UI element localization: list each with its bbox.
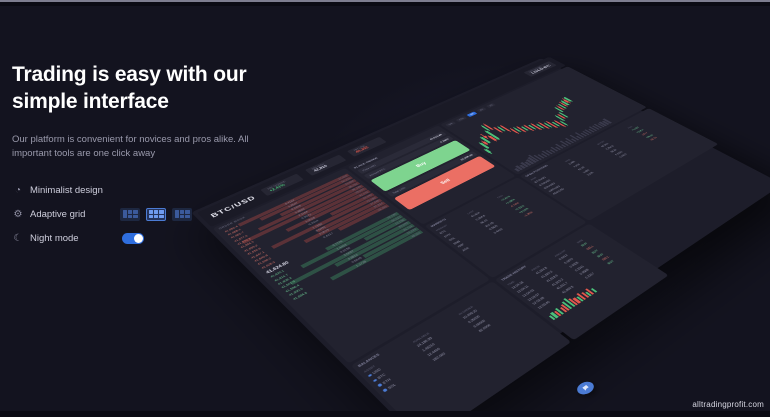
feature-list: ◔ Minimalist design ⚙ Adaptive grid ☾ Ni… xyxy=(10,180,192,252)
hero-subtitle: Our platform is convenient for novices a… xyxy=(12,133,267,162)
support-chat-button[interactable] xyxy=(574,379,597,397)
minimal-design-icon: ◔ xyxy=(10,185,26,196)
feature-adaptive-grid: ⚙ Adaptive grid xyxy=(10,204,192,224)
gear-icon: ⚙ xyxy=(10,209,26,220)
window-frame-bottom xyxy=(0,411,770,417)
support-chat-icon xyxy=(580,384,591,393)
moon-icon: ☾ xyxy=(10,233,26,244)
grid-layout-button-3[interactable] xyxy=(172,208,192,221)
feature-label-minimalist: Minimalist design xyxy=(30,185,116,196)
window-frame-top xyxy=(0,0,770,6)
grid-layout-buttons xyxy=(120,208,192,221)
toggle-knob xyxy=(134,234,143,243)
grid-layout-button-1[interactable] xyxy=(120,208,140,221)
grid-layout-button-2[interactable] xyxy=(146,208,166,221)
feature-minimalist-design: ◔ Minimalist design xyxy=(10,180,192,200)
night-mode-toggle[interactable] xyxy=(122,233,144,244)
dashboard-stage: BTC/USD 24H CHANGE +2.41% 24H HIGH 42,81… xyxy=(258,18,770,408)
site-watermark: alltradingprofit.com xyxy=(692,400,764,409)
feature-label-adaptive-grid: Adaptive grid xyxy=(30,209,116,220)
hero-copy: Trading is easy with our simple interfac… xyxy=(12,62,282,162)
feature-label-night-mode: Night mode xyxy=(30,233,116,244)
page-title: Trading is easy with our simple interfac… xyxy=(12,62,282,116)
feature-night-mode: ☾ Night mode xyxy=(10,228,192,248)
